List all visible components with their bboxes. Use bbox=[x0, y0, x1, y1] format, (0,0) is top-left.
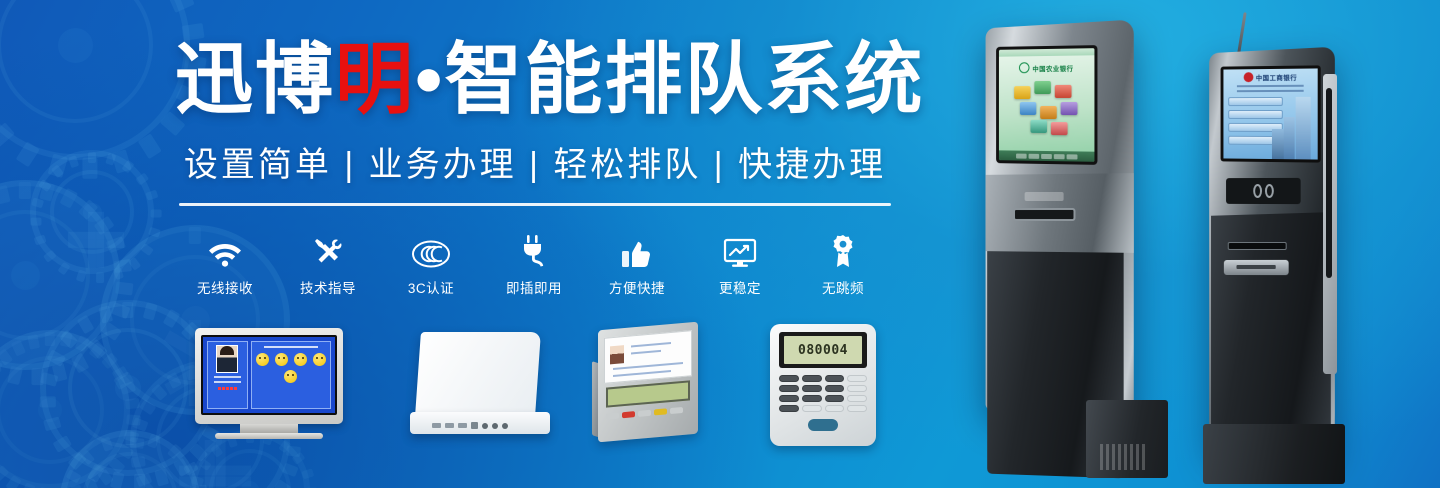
card-line bbox=[631, 342, 671, 347]
service-tile[interactable] bbox=[1034, 81, 1051, 94]
queue-kiosk-abc: 中国农业银行 bbox=[968, 24, 1168, 476]
service-tile[interactable] bbox=[1051, 122, 1068, 135]
feature-item-nohop: 无跳频 bbox=[793, 228, 893, 297]
gear-tooth bbox=[122, 302, 133, 318]
face-unsatisfied bbox=[313, 353, 326, 366]
gear-tooth bbox=[57, 262, 70, 276]
gear-hub bbox=[83, 203, 102, 222]
gear-tooth bbox=[88, 342, 105, 360]
gear-tooth bbox=[281, 463, 298, 478]
tools-icon bbox=[312, 228, 344, 268]
queue-kiosk-icbc: 中国工商银行 bbox=[1203, 28, 1373, 480]
gear-shape bbox=[0, 0, 190, 160]
rating-faces bbox=[254, 353, 328, 383]
gear-tooth bbox=[135, 173, 149, 186]
wireless-host-box bbox=[410, 332, 550, 442]
gear-tooth bbox=[0, 185, 11, 205]
id-scanner[interactable] bbox=[1224, 260, 1289, 275]
gear-tooth bbox=[101, 321, 122, 341]
service-tile[interactable] bbox=[1020, 102, 1036, 115]
gear-spoke bbox=[179, 466, 251, 476]
kiosk-screen-frame: 中国工商银行 bbox=[1221, 65, 1321, 162]
gear-tooth bbox=[194, 484, 208, 488]
bank-name: 中国工商银行 bbox=[1256, 72, 1297, 82]
award-ribbon-icon bbox=[829, 228, 857, 268]
gear-hub bbox=[38, 398, 62, 422]
gear-tooth bbox=[87, 464, 105, 483]
kiosk-brand-plate bbox=[1025, 192, 1064, 201]
face-neutral bbox=[294, 353, 307, 366]
page-title: 迅博明•智能排队系统 bbox=[175, 36, 895, 123]
keypad-keys[interactable] bbox=[779, 375, 867, 412]
gear-hub bbox=[11, 261, 40, 290]
gear-tooth bbox=[30, 218, 41, 226]
gear-tooth bbox=[273, 479, 291, 488]
bank-logo-abc: 中国农业银行 bbox=[999, 61, 1095, 73]
gear-inner-ring bbox=[82, 452, 178, 488]
promo-banner: 迅博明•智能排队系统 设置简单 | 业务办理 | 轻松排队 | 快捷办理 无线接… bbox=[0, 0, 1440, 488]
gear-tooth bbox=[59, 188, 78, 209]
skyline-graphic bbox=[1269, 91, 1315, 160]
gear-shape bbox=[30, 150, 154, 274]
title-part-3: 智能排队系统 bbox=[444, 35, 924, 123]
ticket-slot bbox=[1228, 242, 1287, 250]
gear-tooth bbox=[94, 216, 115, 236]
gear-tooth bbox=[163, 309, 181, 328]
gear-tooth bbox=[292, 452, 305, 465]
gear-tooth bbox=[129, 437, 145, 449]
gear-tooth bbox=[98, 305, 113, 323]
gear-tooth bbox=[140, 243, 154, 256]
bank-logo-mark bbox=[1019, 62, 1030, 73]
gear-tooth bbox=[80, 449, 95, 464]
gear-tooth bbox=[48, 154, 68, 178]
gear-tooth bbox=[173, 458, 191, 477]
plug-icon bbox=[519, 228, 549, 268]
kiosk-screen[interactable]: 中国工商银行 bbox=[1223, 68, 1317, 159]
gear-spoke bbox=[96, 212, 104, 268]
gear-tooth bbox=[75, 335, 90, 352]
gear-tooth bbox=[70, 353, 89, 374]
gear-shape bbox=[0, 330, 130, 488]
gear-tooth bbox=[154, 468, 169, 486]
gear-inner-ring bbox=[68, 328, 188, 448]
rating-stars bbox=[218, 387, 237, 390]
gear-tooth bbox=[148, 227, 161, 238]
gear-tooth bbox=[198, 458, 211, 471]
face-very-unsatisfied bbox=[284, 370, 297, 383]
gear-tooth bbox=[132, 417, 149, 432]
keypad-lcd-frame: 080004 bbox=[779, 332, 867, 368]
service-tile[interactable] bbox=[1014, 86, 1030, 99]
gear-tooth bbox=[51, 165, 64, 179]
gear-tooth bbox=[167, 444, 182, 459]
gear-tooth bbox=[78, 199, 99, 220]
gear-tooth bbox=[76, 269, 87, 282]
staff-card bbox=[207, 341, 248, 409]
title-part-1: 明 bbox=[335, 35, 415, 123]
gear-tooth bbox=[139, 399, 157, 416]
rating-prompt bbox=[264, 346, 319, 348]
gear-ring bbox=[60, 430, 200, 488]
feature-label: 无线接收 bbox=[197, 277, 253, 297]
feature-label: 方便快捷 bbox=[609, 277, 665, 297]
gear-hub bbox=[58, 28, 93, 63]
bank-logo-icbc: 中国工商银行 bbox=[1223, 71, 1317, 82]
gear-tooth bbox=[97, 468, 114, 486]
staff-name-line bbox=[214, 376, 241, 378]
kiosk-side-groove bbox=[1326, 88, 1332, 278]
bank-logo-mark bbox=[1243, 72, 1253, 82]
monitor-screen bbox=[201, 335, 337, 415]
gear-tooth bbox=[151, 383, 168, 401]
gear-tooth bbox=[96, 272, 104, 283]
service-tiles[interactable] bbox=[999, 78, 1095, 137]
gear-tooth bbox=[122, 160, 135, 174]
gear-tooth bbox=[111, 366, 129, 382]
gear-tooth bbox=[183, 461, 198, 475]
gear-tooth bbox=[0, 465, 10, 482]
gear-tooth bbox=[43, 250, 57, 263]
monitor-stand bbox=[240, 424, 298, 433]
gear-tooth bbox=[166, 372, 182, 390]
gear-spoke bbox=[68, 232, 124, 240]
service-tile[interactable] bbox=[1030, 120, 1046, 133]
gear-tooth bbox=[84, 478, 99, 488]
gear-spoke bbox=[68, 240, 124, 248]
gear-tooth bbox=[150, 210, 161, 218]
evaluator-name-card bbox=[604, 330, 692, 384]
gear-tooth bbox=[47, 349, 66, 367]
gear-tooth bbox=[52, 435, 71, 453]
gear-tooth bbox=[109, 471, 124, 488]
gear-inner-ring bbox=[0, 356, 104, 464]
gear-tooth bbox=[51, 363, 67, 383]
gear-tooth bbox=[136, 472, 153, 487]
gear-tooth bbox=[43, 416, 61, 431]
card-line bbox=[613, 362, 683, 370]
gear-tooth bbox=[0, 360, 3, 377]
wifi-icon bbox=[208, 228, 242, 268]
gear-tooth bbox=[106, 236, 126, 254]
ccc-cert-icon bbox=[411, 228, 451, 268]
gear-tooth bbox=[87, 339, 108, 360]
gear-tooth bbox=[145, 190, 158, 201]
gear-ring bbox=[40, 300, 216, 476]
feature-item-stable: 更稳定 bbox=[690, 228, 790, 297]
divider bbox=[179, 203, 891, 206]
gear-tooth bbox=[59, 330, 78, 349]
gear-tooth bbox=[66, 469, 81, 483]
gear-tooth bbox=[134, 474, 145, 488]
monitor-chart-icon bbox=[723, 228, 757, 268]
kiosk-screen-frame: 中国农业银行 bbox=[996, 45, 1097, 165]
staff-id-line bbox=[214, 381, 241, 383]
feature-label: 技术指导 bbox=[300, 277, 356, 297]
gear-tooth bbox=[105, 153, 116, 166]
gear-tooth bbox=[11, 339, 26, 356]
card-reader[interactable] bbox=[1226, 178, 1301, 204]
ticket-slot bbox=[1013, 208, 1075, 221]
gear-tooth bbox=[19, 182, 31, 199]
gear-tooth bbox=[67, 451, 86, 470]
gear-spoke bbox=[88, 212, 96, 268]
staff-photo bbox=[216, 345, 238, 373]
feature-item-plugplay: 即插即用 bbox=[484, 228, 584, 297]
gear-tooth bbox=[119, 381, 136, 395]
gear-tooth bbox=[170, 0, 195, 13]
gear-tooth bbox=[191, 476, 204, 487]
card-line bbox=[631, 350, 661, 355]
feature-label: 无跳频 bbox=[822, 277, 864, 297]
gear-inner-ring bbox=[50, 170, 134, 254]
gear-tooth bbox=[111, 150, 131, 174]
gear-ring bbox=[0, 180, 120, 370]
keypad-enter-button[interactable] bbox=[808, 419, 838, 431]
gear-tooth bbox=[123, 429, 140, 443]
gear-tooth bbox=[128, 257, 141, 271]
gear-tooth bbox=[302, 468, 315, 479]
gear-tooth bbox=[60, 332, 73, 348]
kiosk-screen[interactable]: 中国农业银行 bbox=[999, 48, 1095, 162]
title-part-2: • bbox=[415, 35, 444, 123]
gear-tooth bbox=[31, 368, 43, 385]
gear-tooth bbox=[0, 123, 15, 148]
screen-titlebar bbox=[999, 48, 1095, 57]
gear-tooth bbox=[70, 484, 83, 488]
keypad-body: 080004 bbox=[770, 324, 876, 446]
monitor-bezel bbox=[195, 328, 343, 424]
gear-tooth bbox=[110, 302, 130, 320]
thumbs-up-icon bbox=[621, 228, 653, 268]
gear-shape bbox=[0, 180, 120, 370]
keypad-lcd: 080004 bbox=[784, 336, 862, 364]
gear-tooth bbox=[68, 155, 79, 168]
gear-tooth bbox=[31, 197, 44, 208]
gear-tooth bbox=[143, 302, 158, 320]
product-showcase: 080004 bbox=[195, 318, 895, 453]
card-line bbox=[613, 370, 671, 377]
subtitle: 设置简单 | 业务办理 | 轻松排队 | 快捷办理 bbox=[175, 137, 895, 186]
gear-tooth bbox=[38, 179, 52, 192]
gear-tooth bbox=[34, 234, 47, 245]
service-tile[interactable] bbox=[1040, 106, 1057, 119]
gear-tooth bbox=[147, 433, 160, 448]
gear-ring bbox=[0, 330, 130, 488]
gear-tooth bbox=[16, 142, 40, 167]
monitor-foot bbox=[215, 433, 323, 439]
gear-tooth bbox=[108, 457, 126, 474]
gear-ring bbox=[30, 150, 154, 274]
feature-label: 即插即用 bbox=[506, 277, 562, 297]
screen-dock bbox=[999, 150, 1095, 161]
kiosk-vent bbox=[1100, 444, 1145, 470]
queue-keypad-caller: 080004 bbox=[770, 324, 876, 446]
service-tile[interactable] bbox=[1055, 85, 1072, 98]
gear-tooth bbox=[77, 315, 95, 334]
gear-tooth bbox=[21, 482, 36, 488]
evaluator-photo bbox=[610, 345, 624, 364]
gear-tooth bbox=[101, 352, 119, 369]
feature-list: 无线接收 技术指导 3C认证 即插即用 方便快捷 bbox=[175, 228, 893, 297]
gear-tooth bbox=[101, 436, 114, 451]
feature-label: 3C认证 bbox=[408, 277, 454, 297]
feature-item-wireless: 无线接收 bbox=[175, 228, 275, 297]
gear-hub bbox=[115, 375, 141, 401]
gear-hub bbox=[241, 481, 259, 488]
gear-tooth bbox=[40, 372, 58, 387]
gear-tooth bbox=[126, 414, 141, 426]
gear-tooth bbox=[5, 474, 22, 488]
gear-shape bbox=[60, 430, 200, 488]
gear-shape bbox=[40, 300, 216, 476]
gear-tooth bbox=[113, 371, 134, 390]
feature-item-ccc: 3C认证 bbox=[381, 228, 481, 297]
host-panel bbox=[415, 332, 541, 416]
kiosk-base bbox=[1203, 424, 1345, 484]
rating-panel bbox=[251, 341, 331, 409]
gear-tooth bbox=[88, 152, 96, 163]
bank-name: 中国农业银行 bbox=[1032, 62, 1073, 72]
screen-notice-line bbox=[1237, 85, 1303, 87]
gear-tooth bbox=[27, 334, 40, 350]
evaluation-monitor bbox=[195, 328, 343, 439]
gear-tooth bbox=[125, 432, 134, 445]
face-very-satisfied bbox=[256, 353, 269, 366]
feature-item-convenient: 方便快捷 bbox=[587, 228, 687, 297]
gear-tooth bbox=[39, 182, 55, 202]
face-satisfied bbox=[275, 353, 288, 366]
gear-tooth bbox=[138, 134, 162, 159]
service-tile[interactable] bbox=[1061, 102, 1078, 115]
keypad-display-value: 080004 bbox=[798, 343, 848, 358]
gear-spoke bbox=[179, 476, 251, 486]
gear-tooth bbox=[0, 348, 14, 366]
gear-tooth bbox=[113, 267, 124, 280]
title-part-0: 迅博 bbox=[175, 35, 335, 123]
gear-tooth bbox=[125, 398, 140, 410]
gear-inner-ring bbox=[0, 210, 90, 340]
gear-tooth bbox=[117, 444, 135, 460]
gear-tooth bbox=[114, 259, 132, 273]
gear-tooth bbox=[115, 281, 133, 295]
gear-inner-ring bbox=[209, 449, 291, 488]
feature-label: 更稳定 bbox=[719, 277, 761, 297]
gear-tooth bbox=[131, 456, 147, 468]
gear-tooth bbox=[45, 332, 55, 346]
title-block: 迅博明•智能排队系统 设置简单 | 业务办理 | 轻松排队 | 快捷办理 bbox=[175, 36, 895, 206]
gear-tooth bbox=[40, 396, 56, 407]
gear-tooth bbox=[0, 358, 3, 379]
feature-item-support: 技术指导 bbox=[278, 228, 378, 297]
desktop-evaluator bbox=[590, 320, 710, 448]
gear-tooth bbox=[82, 158, 97, 179]
gear-ring bbox=[0, 0, 190, 160]
gear-inner-ring bbox=[0, 0, 153, 123]
gear-tooth bbox=[7, 366, 23, 386]
host-ports bbox=[432, 422, 508, 429]
